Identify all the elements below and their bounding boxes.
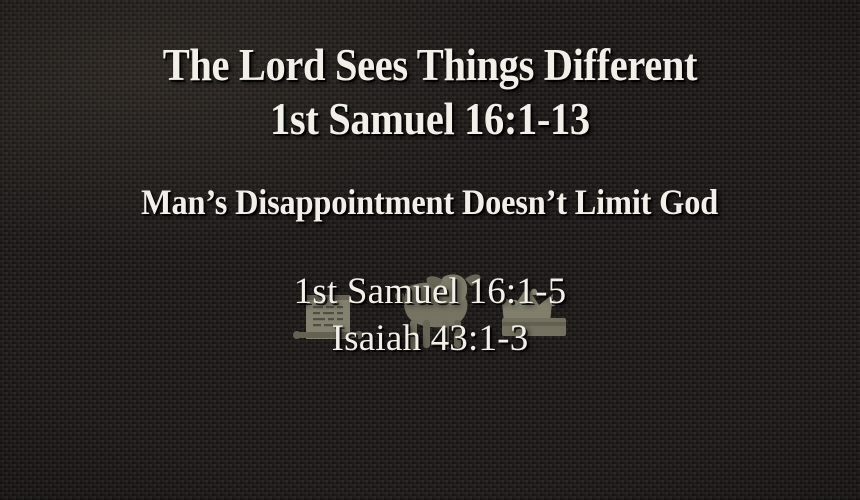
slide-content: The Lord Sees Things Different 1st Samue… <box>0 0 860 500</box>
title-line-1: The Lord Sees Things Different <box>163 38 697 92</box>
scripture-reference-2: Isaiah 43:1-3 <box>294 315 567 362</box>
title-block: The Lord Sees Things Different 1st Samue… <box>133 38 727 146</box>
scripture-references: 1st Samuel 16:1-5 Isaiah 43:1-3 <box>294 268 567 362</box>
scripture-reference-1: 1st Samuel 16:1-5 <box>294 268 567 315</box>
title-line-2: 1st Samuel 16:1-13 <box>163 92 697 146</box>
presentation-slide: The Lord Sees Things Different 1st Samue… <box>0 0 860 500</box>
subtitle: Man’s Disappointment Doesn’t Limit God <box>141 180 718 224</box>
